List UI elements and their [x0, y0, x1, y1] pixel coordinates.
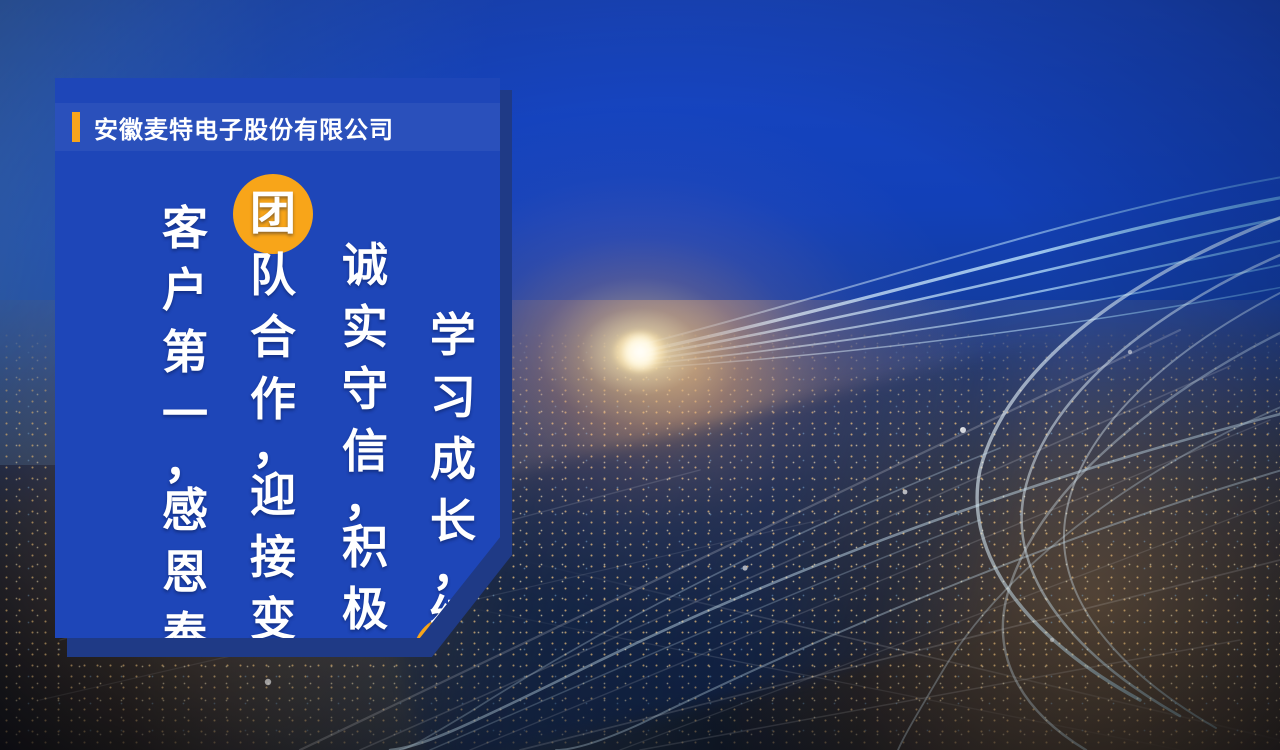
slogan-column-teamwork: 团 队 合 作 ， 迎 接 变 化	[228, 183, 320, 638]
slogan-char: 学	[422, 305, 484, 367]
slogan-char: 实	[334, 297, 396, 359]
slogan-char: 队	[242, 245, 304, 307]
slogan-char: 诚	[334, 235, 396, 297]
slogan-char: 成	[422, 429, 484, 491]
slogan-char: 极	[334, 579, 396, 641]
slogan-char: ，	[242, 431, 304, 465]
poster-canvas: 安徽麦特电子股份有限公司 学 习 成 长 ， 结 果 为 王	[0, 0, 1280, 750]
slogan-columns: 学 习 成 长 ， 结 果 为 王 诚 实	[55, 183, 500, 638]
slogan-char: 户	[154, 260, 216, 322]
card-panel: 安徽麦特电子股份有限公司 学 习 成 长 ， 结 果 为 王	[55, 78, 500, 638]
title-accent-bar	[72, 112, 80, 142]
slogan-char: 接	[242, 527, 304, 589]
slogan-char: 恩	[154, 542, 216, 604]
slogan-char: 合	[242, 307, 304, 369]
slogan-column-customer: 客 户 第 一 ， 感 恩 奉 献	[140, 183, 228, 638]
slogan-char: 习	[422, 367, 484, 429]
slogan-char: ，	[334, 483, 396, 517]
slogan-char: 迎	[242, 465, 304, 527]
slogan-column-integrity: 诚 实 守 信 ， 积 极 向 上	[320, 183, 408, 638]
page-title: 安徽麦特电子股份有限公司	[94, 110, 394, 145]
slogan-char: 积	[334, 517, 396, 579]
slogan-char: ，	[154, 446, 216, 480]
slogan-char: 客	[154, 198, 216, 260]
card-title-bar: 安徽麦特电子股份有限公司	[55, 103, 500, 151]
slogan-char: 第	[154, 322, 216, 384]
slogan-char: 感	[154, 480, 216, 542]
slogan-char: 团	[242, 183, 304, 245]
slogan-char: 守	[334, 359, 396, 421]
culture-card: 安徽麦特电子股份有限公司 学 习 成 长 ， 结 果 为 王	[55, 78, 500, 648]
